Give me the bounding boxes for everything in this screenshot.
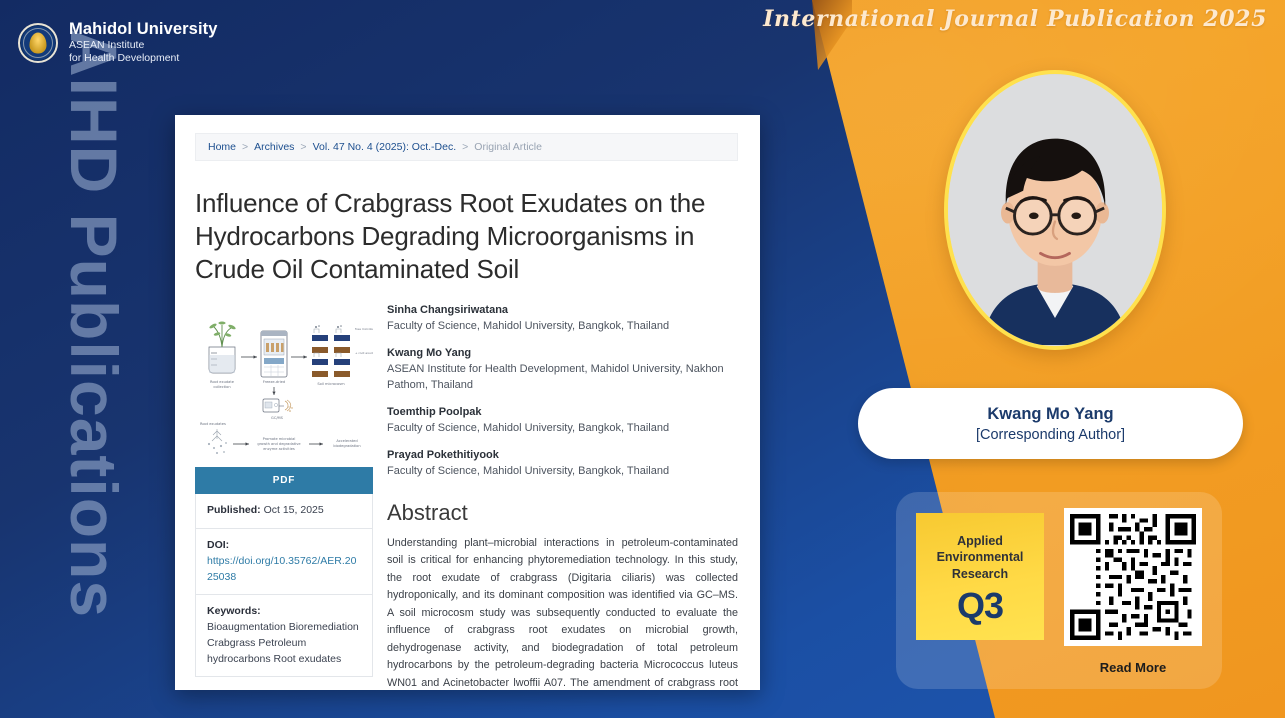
graphical-abstract-figure: Root exudate collection: [195, 303, 373, 461]
doi-link[interactable]: https://doi.org/10.35762/AER.2025038: [207, 555, 356, 583]
article-sidebar: Root exudate collection: [195, 303, 373, 690]
breadcrumb-item-archives[interactable]: Archives: [254, 141, 294, 153]
svg-text:Root exudate: Root exudate: [210, 380, 235, 384]
journal-quartile-badge: Applied Environmental Research Q3: [916, 513, 1044, 640]
published-label: Published:: [207, 504, 261, 516]
doi-meta: DOI: https://doi.org/10.35762/AER.202503…: [195, 529, 373, 595]
published-meta: Published: Oct 15, 2025: [195, 494, 373, 529]
abstract-heading: Abstract: [387, 500, 738, 526]
breadcrumb-separator: >: [300, 141, 306, 153]
vertical-side-label: AIHD Publications: [55, 29, 133, 649]
author-affiliation: ASEAN Institute for Health Development, …: [387, 362, 738, 394]
author-name: Prayad Pokethitiyook: [387, 448, 738, 464]
article-main-column: Sinha Changsiriwatana Faculty of Science…: [387, 303, 738, 690]
article-card: Home > Archives > Vol. 47 No. 4 (2025): …: [175, 115, 760, 690]
brand-text: Mahidol University ASEAN Institute for H…: [69, 20, 218, 65]
breadcrumb-item-volume[interactable]: Vol. 47 No. 4 (2025): Oct.-Dec.: [313, 141, 457, 153]
article-title: Influence of Crabgrass Root Exudates on …: [195, 187, 738, 285]
author-name: Toemthip Poolpak: [387, 405, 738, 421]
doi-label: DOI:: [207, 538, 361, 554]
journal-name-line2: Environmental: [937, 549, 1024, 566]
svg-text:+ root exudates: + root exudates: [355, 351, 373, 355]
author-affiliation: Faculty of Science, Mahidol University, …: [387, 319, 738, 335]
svg-text:Soil microcosm: Soil microcosm: [317, 382, 345, 386]
banner-title: International Journal Publication 2025: [763, 6, 1267, 32]
journal-name-line3: Research: [952, 566, 1008, 583]
keywords-meta: Keywords: Bioaugmentation Bioremediation…: [195, 595, 373, 677]
article-body: Root exudate collection: [195, 303, 738, 690]
qr-code-icon[interactable]: [1064, 508, 1202, 646]
journal-name-line1: Applied: [957, 533, 1003, 550]
author-entry: Sinha Changsiriwatana Faculty of Science…: [387, 303, 738, 335]
breadcrumb-item-current: Original Article: [474, 141, 542, 153]
author-name: Kwang Mo Yang: [387, 346, 738, 362]
svg-text:Accelerated: Accelerated: [336, 439, 357, 443]
corresponding-author-name: Kwang Mo Yang: [987, 405, 1113, 424]
author-entry: Prayad Pokethitiyook Faculty of Science,…: [387, 448, 738, 480]
keywords-label: Keywords:: [207, 604, 361, 620]
quartile-value: Q3: [957, 588, 1003, 624]
author-affiliation: Faculty of Science, Mahidol University, …: [387, 421, 738, 437]
svg-text:free microbe: free microbe: [355, 327, 373, 331]
keywords-value: Bioaugmentation Bioremediation Crabgrass…: [207, 620, 361, 667]
author-portrait: [944, 70, 1166, 350]
abstract-text: Understanding plant–microbial interactio…: [387, 535, 738, 690]
breadcrumb-separator: >: [462, 141, 468, 153]
published-value: Oct 15, 2025: [264, 504, 324, 516]
author-entry: Kwang Mo Yang ASEAN Institute for Health…: [387, 346, 738, 394]
breadcrumb-item-home[interactable]: Home: [208, 141, 236, 153]
mahidol-seal-icon: [18, 23, 58, 63]
svg-text:Root exudates: Root exudates: [200, 422, 226, 426]
svg-text:growth and degradative: growth and degradative: [257, 442, 301, 446]
author-affiliation: Faculty of Science, Mahidol University, …: [387, 464, 738, 480]
breadcrumb-separator: >: [242, 141, 248, 153]
breadcrumb: Home > Archives > Vol. 47 No. 4 (2025): …: [195, 133, 738, 161]
corresponding-author-role: [Corresponding Author]: [976, 427, 1125, 443]
svg-text:enzyme activities: enzyme activities: [263, 447, 295, 451]
brand-institute-line2: for Health Development: [69, 52, 218, 65]
read-more-link[interactable]: Read More: [1064, 660, 1202, 675]
svg-text:GC/MS: GC/MS: [271, 416, 284, 420]
pdf-download-button[interactable]: PDF: [195, 467, 373, 494]
svg-text:biodegradation: biodegradation: [333, 444, 360, 448]
author-name: Sinha Changsiriwatana: [387, 303, 738, 319]
brand-institute-line1: ASEAN Institute: [69, 39, 218, 52]
brand-lockup: Mahidol University ASEAN Institute for H…: [18, 20, 218, 65]
author-entry: Toemthip Poolpak Faculty of Science, Mah…: [387, 405, 738, 437]
svg-text:collection: collection: [213, 385, 230, 389]
svg-text:Freeze-dried: Freeze-dried: [263, 380, 285, 384]
brand-university-name: Mahidol University: [69, 20, 218, 39]
svg-text:Promote microbial: Promote microbial: [263, 437, 296, 441]
corresponding-author-card: Kwang Mo Yang [Corresponding Author]: [858, 388, 1243, 459]
